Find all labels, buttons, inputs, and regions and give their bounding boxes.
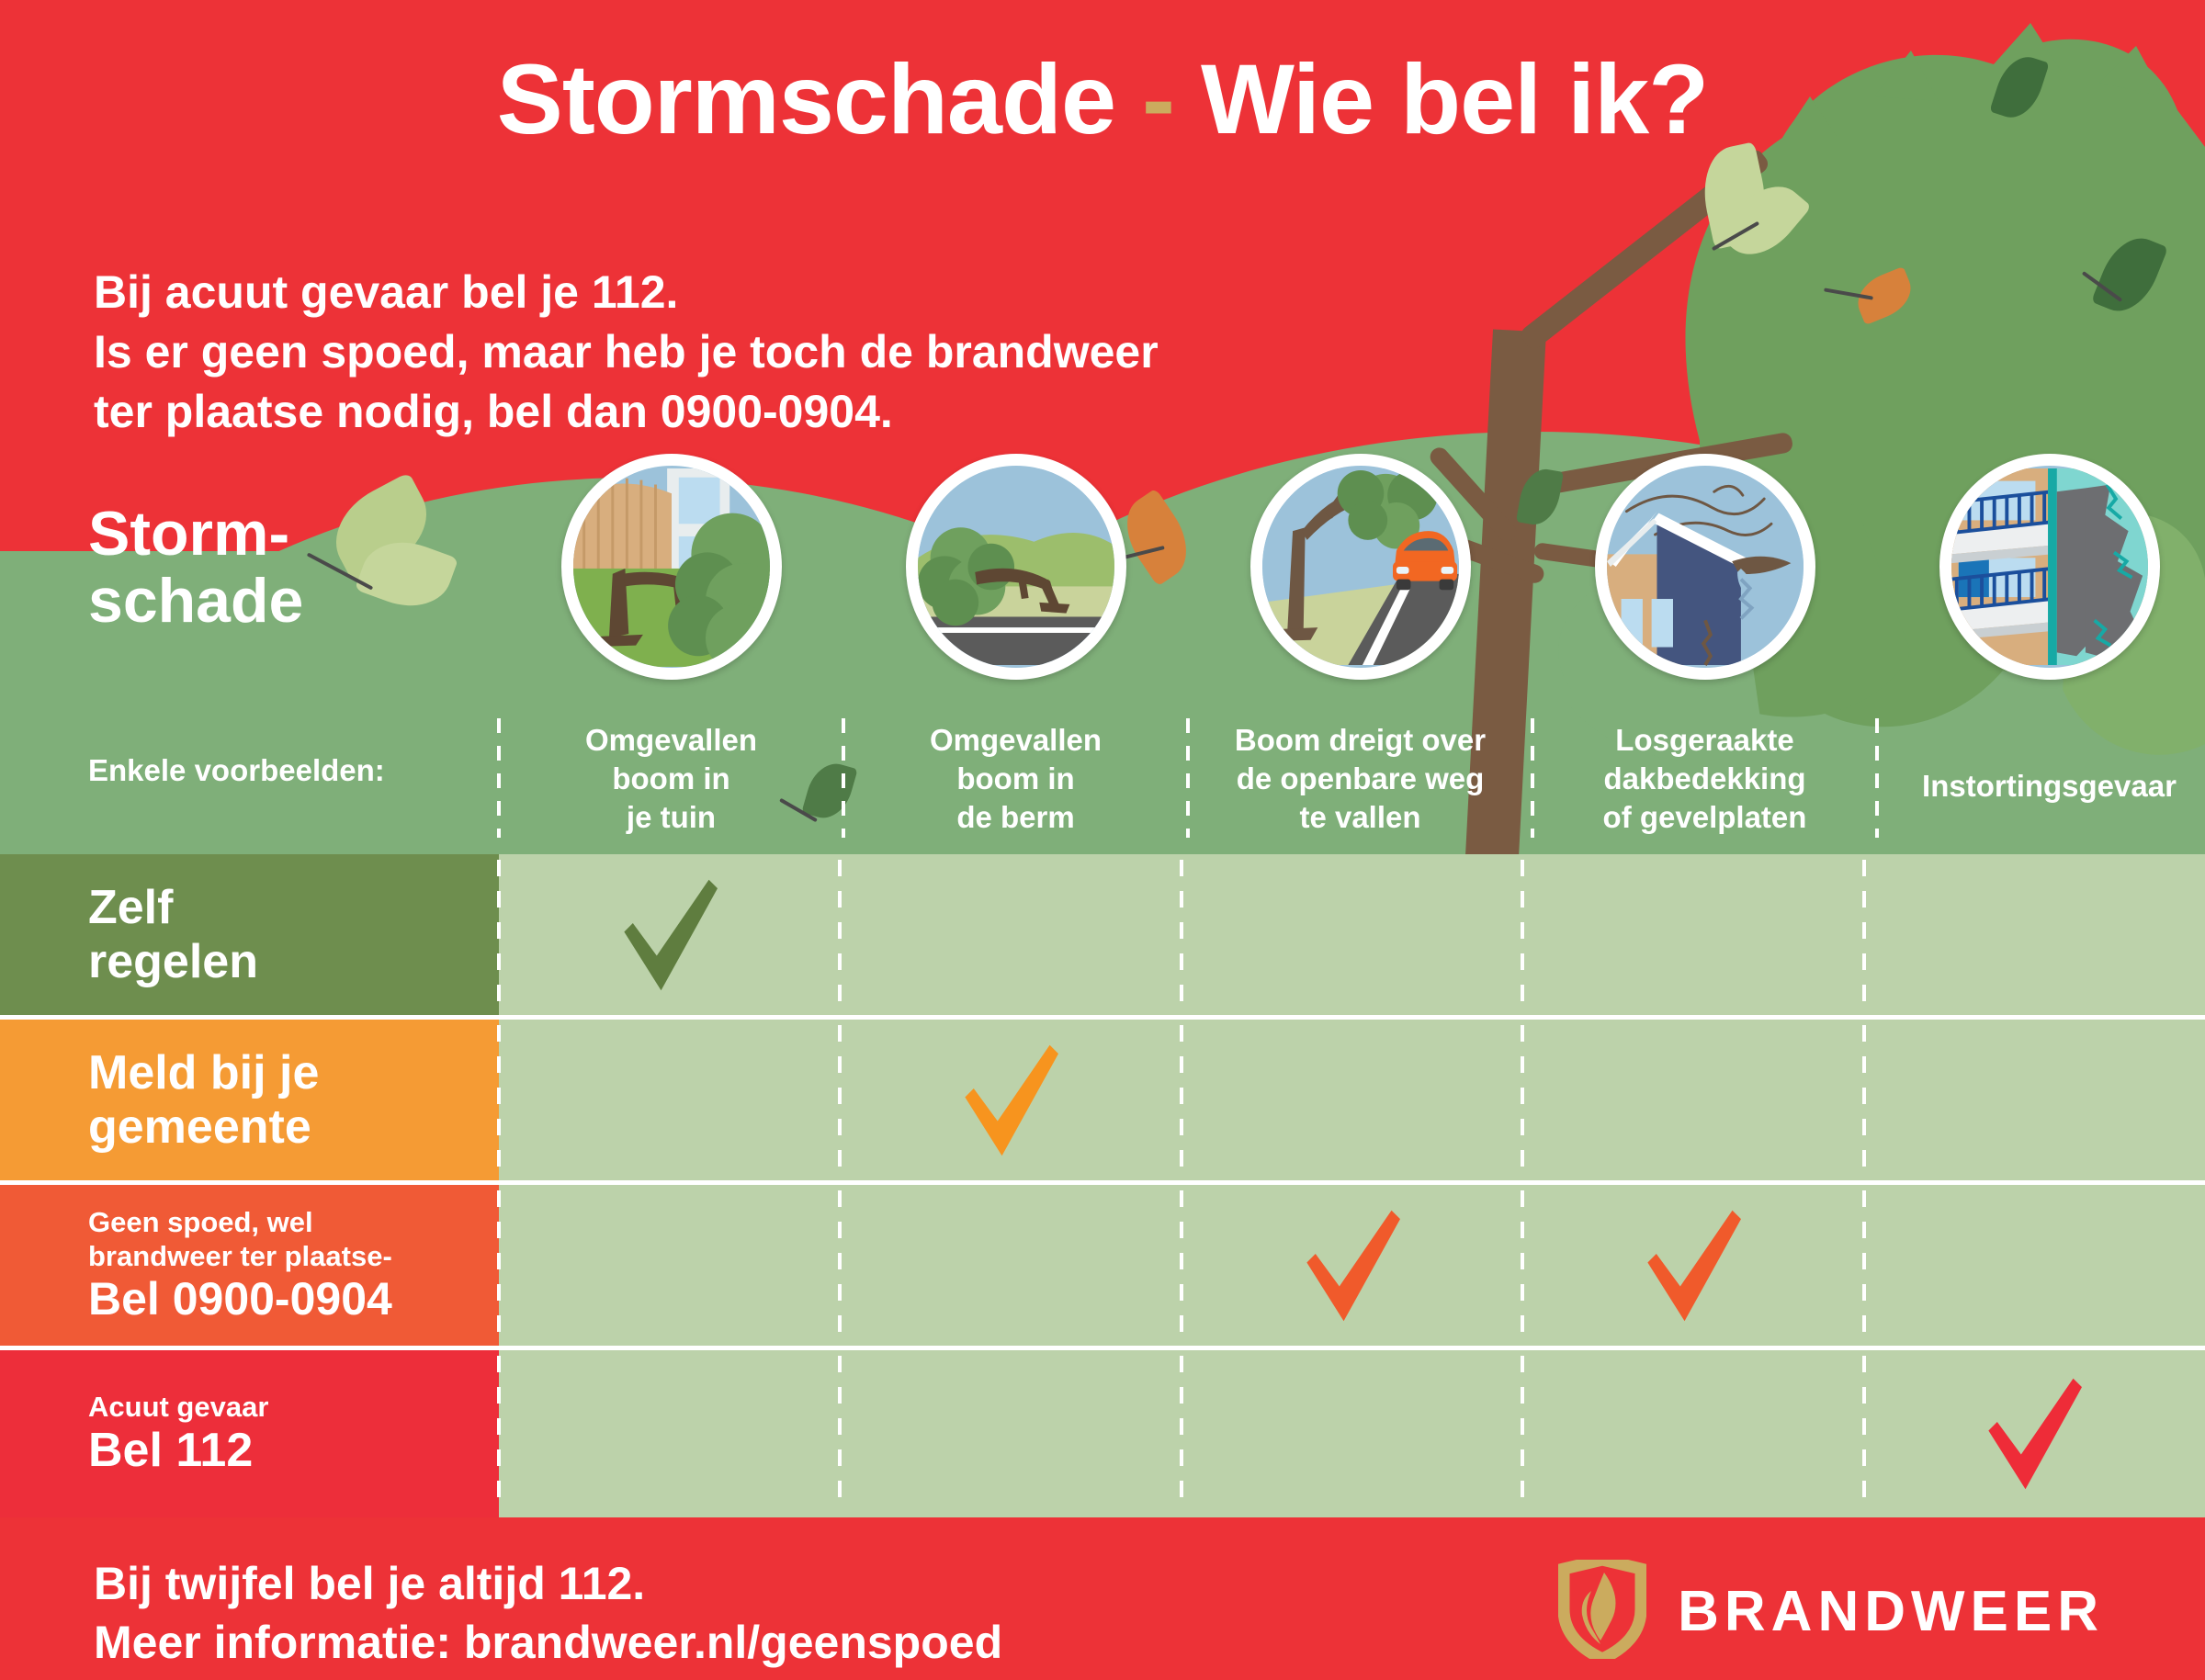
table-row: Zelf regelen: [0, 854, 2205, 1020]
row-label-zelf-regelen: Zelf regelen: [0, 854, 499, 1015]
row-cells: [499, 1185, 2205, 1346]
stormschade-label: Storm- schade: [88, 501, 303, 636]
row-label-meld-gemeente: Meld bij je gemeente: [0, 1020, 499, 1180]
table-row: Geen spoed, wel brandweer ter plaatse- B…: [0, 1185, 2205, 1350]
row-title: Zelf regelen: [88, 881, 499, 987]
cell-r3-c3[interactable]: [1182, 1185, 1522, 1346]
row-title: Meld bij je gemeente: [88, 1046, 499, 1153]
cell-r2-c3[interactable]: [1182, 1020, 1522, 1180]
cell-r3-c1[interactable]: [499, 1185, 840, 1346]
title-dash: -: [1142, 43, 1174, 154]
intro-text: Bij acuut gevaar bel je 112. Is er geen …: [94, 263, 1159, 442]
cell-r2-c5[interactable]: [1864, 1020, 2205, 1180]
cell-r2-c2[interactable]: [840, 1020, 1181, 1180]
cell-r2-c4[interactable]: [1522, 1020, 1863, 1180]
column-icon-fallen-tree-verge: [906, 454, 1126, 680]
cell-r4-c5[interactable]: [1864, 1350, 2205, 1517]
cell-r3-c2[interactable]: [840, 1185, 1181, 1346]
cell-r1-c2[interactable]: [840, 854, 1181, 1015]
cell-r3-c5[interactable]: [1864, 1185, 2205, 1346]
cell-r2-c1[interactable]: [499, 1020, 840, 1180]
row-title: Bel 112: [88, 1424, 499, 1477]
flying-leaf-pale-top-2: [1736, 179, 1792, 262]
footer: Bij twijfel bel je altijd 112. Meer info…: [0, 1528, 2205, 1680]
examples-label: Enkele voorbeelden:: [88, 753, 385, 788]
fallen-tree-verge-icon: [918, 466, 1114, 668]
damaged-roof-icon: [1607, 466, 1804, 668]
column-header-3: Boom dreigt over de openbare weg te vall…: [1188, 721, 1532, 838]
flying-leaf-pale-left-2: [363, 542, 450, 606]
column-header-1: Omgevallen boom in je tuin: [499, 721, 843, 838]
cell-r4-c3[interactable]: [1182, 1350, 1522, 1517]
cell-r1-c4[interactable]: [1522, 854, 1863, 1015]
flying-leaf-dark-right: [2104, 235, 2155, 314]
column-header-5: Instortingsgevaar: [1877, 767, 2205, 806]
fallen-tree-garden-icon: [573, 466, 770, 668]
decision-table: Zelf regelen Meld bij je gemeente: [0, 854, 2205, 1517]
row-label-112: Acuut gevaar Bel 112: [0, 1350, 499, 1517]
cell-r4-c4[interactable]: [1522, 1350, 1863, 1517]
table-row: Acuut gevaar Bel 112: [0, 1350, 2205, 1517]
cell-r1-c3[interactable]: [1182, 854, 1522, 1015]
column-icon-tree-over-road: [1250, 454, 1471, 680]
tree-over-road-icon: [1262, 466, 1459, 668]
collapsing-building-icon: [1951, 466, 2148, 668]
row-subtitle: Geen spoed, wel brandweer ter plaatse-: [88, 1206, 499, 1273]
checkmark-icon: [1979, 1374, 2089, 1494]
footer-text: Bij twijfel bel je altijd 112. Meer info…: [94, 1554, 1002, 1672]
cell-r4-c2[interactable]: [840, 1350, 1181, 1517]
column-header-2: Omgevallen boom in de berm: [843, 721, 1188, 838]
checkmark-icon: [615, 875, 725, 995]
checkmark-icon: [1297, 1206, 1408, 1325]
column-icon-collapsing-building: [1939, 454, 2160, 680]
column-icon-damaged-roof: [1595, 454, 1815, 680]
title-rest: Wie bel ik?: [1201, 43, 1708, 154]
cell-r1-c5[interactable]: [1864, 854, 2205, 1015]
row-cells: [499, 1020, 2205, 1180]
column-header-4: Losgeraakte dakbedekking of gevelplaten: [1532, 721, 1877, 838]
cell-r1-c1[interactable]: [499, 854, 840, 1015]
row-label-0900: Geen spoed, wel brandweer ter plaatse- B…: [0, 1185, 499, 1346]
brandweer-flame-shield-icon: [1558, 1560, 1646, 1663]
brandweer-logo: BRANDWEER: [1558, 1560, 2104, 1663]
cell-r4-c1[interactable]: [499, 1350, 840, 1517]
flying-leaf-orange: [1130, 496, 1183, 579]
row-cells: [499, 854, 2205, 1015]
brandweer-wordmark: BRANDWEER: [1678, 1579, 2104, 1644]
flying-leaf-canopy-2: [1521, 468, 1559, 525]
poster-root: Stormschade - Wie bel ik? Bij acuut geva…: [0, 0, 2205, 1680]
table-row: Meld bij je gemeente: [0, 1020, 2205, 1185]
checkmark-icon: [955, 1041, 1066, 1160]
column-icon-fallen-tree-garden: [561, 454, 782, 680]
cell-r3-c4[interactable]: [1522, 1185, 1863, 1346]
row-title: Bel 0900-0904: [88, 1273, 499, 1325]
title-main: Stormschade: [497, 43, 1115, 154]
row-cells: [499, 1350, 2205, 1517]
checkmark-icon: [1638, 1206, 1748, 1325]
page-title: Stormschade - Wie bel ik?: [0, 50, 2205, 149]
row-subtitle: Acuut gevaar: [88, 1391, 499, 1425]
